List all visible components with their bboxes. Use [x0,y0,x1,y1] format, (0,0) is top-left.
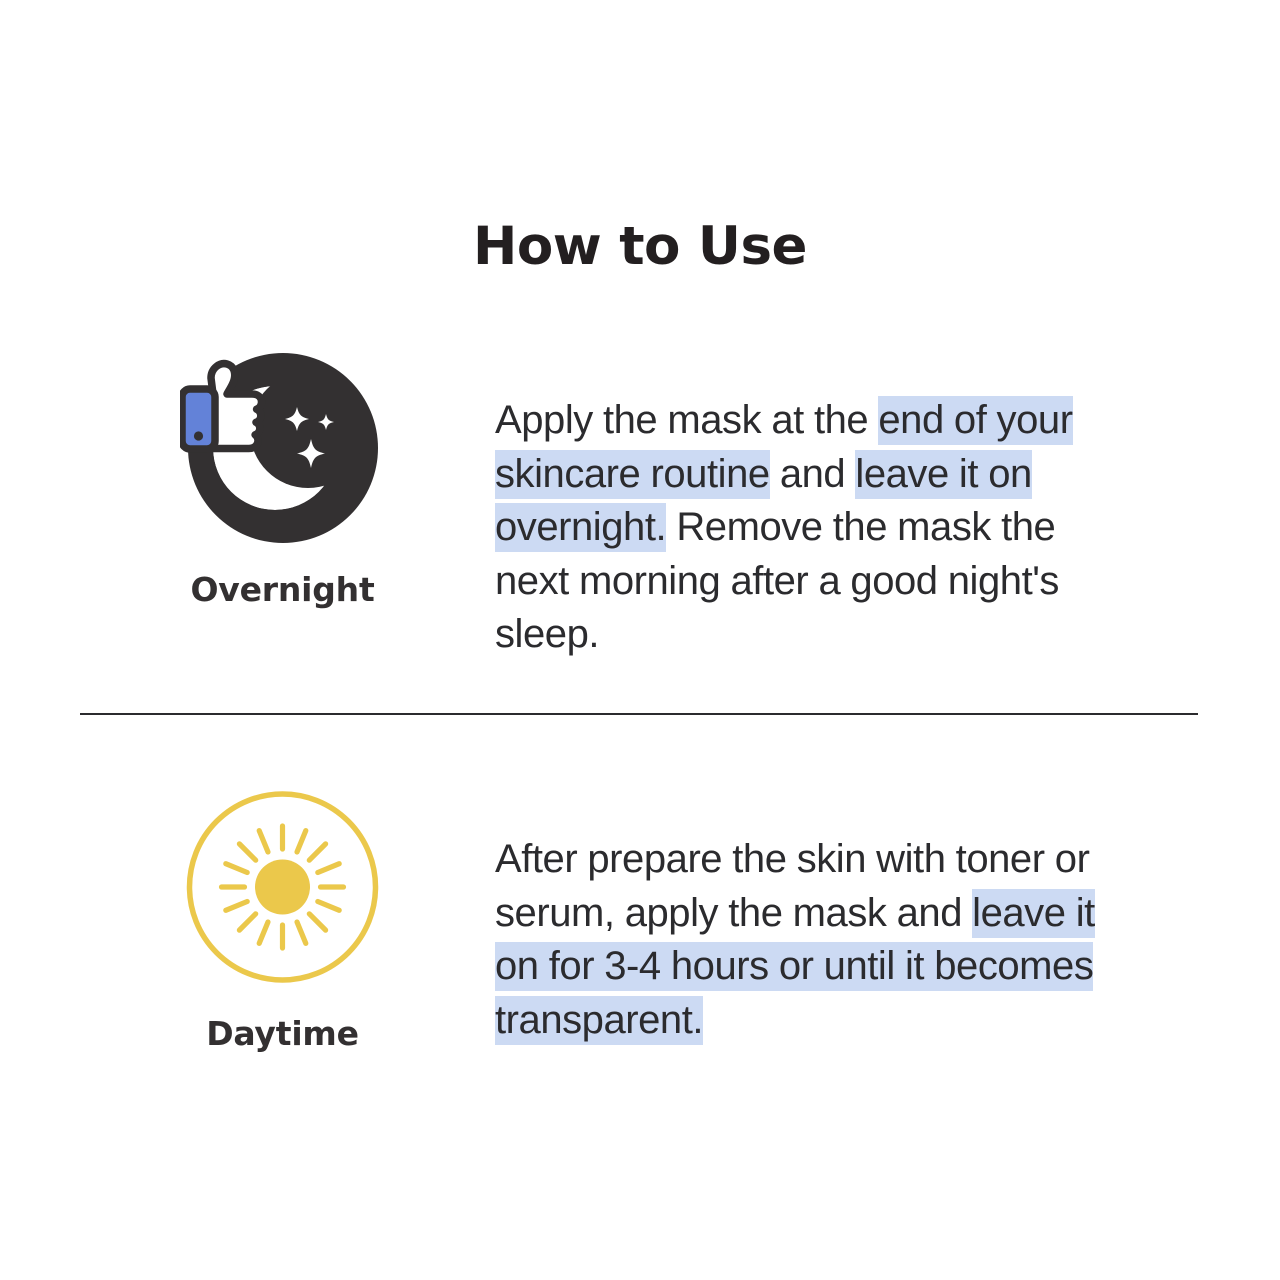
daytime-paragraph: After prepare the skin with toner or ser… [495,833,1115,1047]
daytime-label: Daytime [80,1014,485,1053]
how-to-use-card: How to Use [0,0,1280,1280]
overnight-body-column: Apply the mask at the end of your skinca… [495,354,1115,702]
section-daytime: Daytime After prepare the skin with tone… [0,790,1280,1090]
overnight-paragraph: Apply the mask at the end of your skinca… [495,394,1115,662]
overnight-label: Overnight [80,570,485,609]
section-overnight: Overnight Apply the mask at the end of y… [0,352,1280,652]
daytime-body-column: After prepare the skin with toner or ser… [495,793,1115,1087]
section-divider [80,713,1198,715]
sun-icon [180,790,385,986]
moon-thumbs-up-icon [180,352,385,544]
plain-text: Apply the mask at the [495,398,878,442]
daytime-icon-column: Daytime [80,790,485,1053]
plain-text: and [770,452,856,496]
moon-thumbs-up-svg [180,352,385,544]
overnight-icon-column: Overnight [80,352,485,609]
page-title: How to Use [0,218,1280,276]
sun-icon-svg [180,790,385,986]
